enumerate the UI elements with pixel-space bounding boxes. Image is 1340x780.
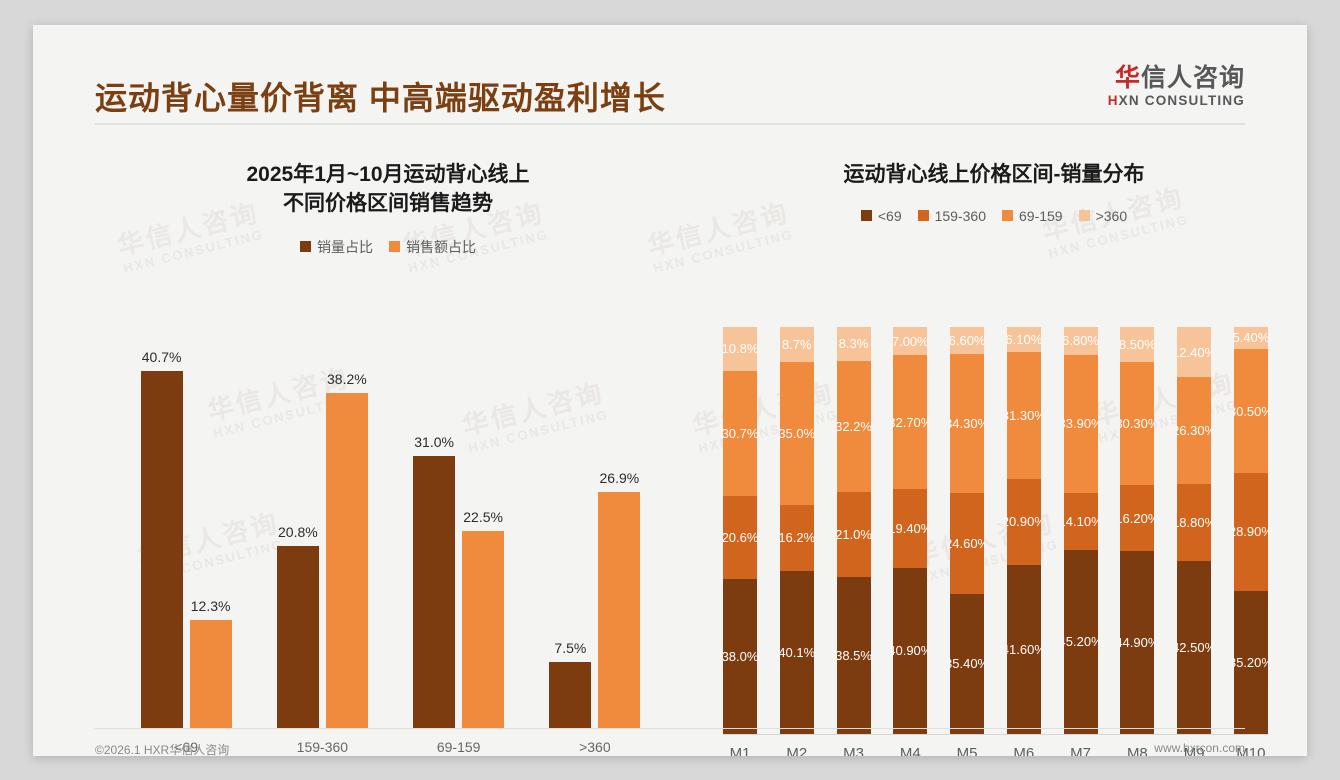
- segment-value-label: 26.30%: [1177, 424, 1211, 437]
- segment-value-label: 32.70%: [893, 416, 927, 429]
- footer-website: www.hxrcon.com: [1154, 741, 1245, 755]
- bar-group: 7.5%26.9%: [530, 320, 660, 728]
- stacked-chart-title-line1: 运动背心线上价格区间-销量分布: [709, 161, 1279, 190]
- x-axis-tick-label: M6: [1007, 745, 1041, 756]
- legend-item[interactable]: 159-360: [918, 208, 986, 224]
- bar-value-label: 40.7%: [142, 349, 182, 365]
- grouped-chart-title-line1: 2025年1月~10月运动背心线上: [73, 161, 703, 190]
- stacked-bar-segment[interactable]: 33.90%: [1064, 355, 1098, 493]
- segment-value-label: 6.80%: [1064, 334, 1098, 347]
- stacked-bar-segment[interactable]: 8.50%: [1120, 327, 1154, 362]
- bar-group: 31.0%22.5%: [394, 320, 524, 728]
- stacked-bar-segment[interactable]: 42.50%: [1177, 561, 1211, 734]
- x-axis-tick-label: M5: [950, 745, 984, 756]
- stacked-chart-legend: <69159-36069-159>360: [709, 208, 1279, 224]
- legend-item[interactable]: >360: [1079, 208, 1128, 224]
- bar-column[interactable]: 38.2%: [326, 320, 368, 728]
- legend-item[interactable]: 销售额占比: [389, 237, 476, 257]
- bar[interactable]: [462, 531, 504, 728]
- stacked-bar-segment[interactable]: 24.60%: [950, 493, 984, 593]
- stacked-chart-title: 运动背心线上价格区间-销量分布: [709, 161, 1279, 190]
- stacked-bar-segment[interactable]: 30.50%: [1234, 349, 1268, 473]
- bar-column[interactable]: 7.5%: [549, 320, 591, 728]
- stacked-bar-segment[interactable]: 44.90%: [1120, 551, 1154, 734]
- x-axis-tick-label: M8: [1120, 745, 1154, 756]
- stacked-bar-segment[interactable]: 45.20%: [1064, 550, 1098, 734]
- segment-value-label: 32.2%: [837, 420, 871, 433]
- segment-value-label: 40.90%: [893, 644, 927, 657]
- legend-item[interactable]: <69: [861, 208, 902, 224]
- segment-value-label: 14.10%: [1064, 515, 1098, 528]
- logo-hx-character: 华: [1115, 64, 1141, 92]
- bar-value-label: 26.9%: [600, 470, 640, 486]
- segment-value-label: 24.60%: [950, 537, 984, 550]
- stacked-bar[interactable]: 6.60%34.30%24.60%35.40%: [950, 327, 984, 734]
- legend-label: 销售额占比: [406, 237, 476, 257]
- bar[interactable]: [598, 492, 640, 728]
- stacked-bar-chart-panel: 运动背心线上价格区间-销量分布 <69159-36069-159>360 10.…: [709, 145, 1279, 715]
- segment-value-label: 6.60%: [950, 334, 984, 347]
- segment-value-label: 21.0%: [837, 528, 871, 541]
- stacked-bar-segment[interactable]: 16.2%: [780, 505, 814, 571]
- segment-value-label: 16.20%: [1120, 512, 1154, 525]
- legend-swatch-icon: [1079, 210, 1090, 221]
- legend-swatch-icon: [1002, 210, 1013, 221]
- stacked-bar-segment[interactable]: 32.70%: [893, 355, 927, 488]
- x-tick-range: >360: [530, 737, 660, 756]
- bar-column[interactable]: 22.5%: [462, 320, 504, 728]
- stacked-bar-segment[interactable]: 41.60%: [1007, 565, 1041, 734]
- bar-value-label: 12.3%: [191, 598, 231, 614]
- stacked-bar[interactable]: 10.8%30.7%20.6%38.0%: [723, 327, 757, 734]
- bar-group: 20.8%38.2%: [257, 320, 387, 728]
- legend-label: 销量占比: [317, 237, 373, 257]
- segment-value-label: 12.40%: [1177, 346, 1211, 359]
- stacked-bar-segment[interactable]: 19.40%: [893, 489, 927, 568]
- stacked-bar-segment[interactable]: 5.40%: [1234, 327, 1268, 349]
- logo-chinese-text: 华信人咨询: [1108, 65, 1245, 91]
- segment-value-label: 8.50%: [1120, 338, 1154, 351]
- stacked-bar-segment[interactable]: 35.20%: [1234, 591, 1268, 734]
- slide-card: 运动背心量价背离 中高端驱动盈利增长 华信人咨询 HXN CONSULTING …: [33, 25, 1307, 756]
- bar-value-label: 22.5%: [463, 509, 503, 525]
- x-tick-range: 69-159: [394, 737, 524, 756]
- stacked-bar-segment[interactable]: 8.7%: [780, 327, 814, 362]
- stacked-bar-segment[interactable]: 14.10%: [1064, 493, 1098, 550]
- segment-value-label: 30.30%: [1120, 417, 1154, 430]
- stacked-bar-segment[interactable]: 28.90%: [1234, 473, 1268, 591]
- legend-label: 159-360: [935, 208, 986, 224]
- legend-label: <69: [878, 208, 902, 224]
- stacked-bar[interactable]: 7.00%32.70%19.40%40.90%: [893, 327, 927, 734]
- segment-value-label: 44.90%: [1120, 636, 1154, 649]
- x-axis-tick-label: M3: [837, 745, 871, 756]
- segment-value-label: 38.5%: [837, 649, 871, 662]
- segment-value-label: 35.20%: [1234, 656, 1268, 669]
- logo-english-text: HXN CONSULTING: [1108, 94, 1245, 108]
- stacked-bar-segment[interactable]: 31.30%: [1007, 352, 1041, 480]
- segment-value-label: 19.40%: [893, 522, 927, 535]
- bar-column[interactable]: 20.8%: [277, 320, 319, 728]
- stacked-bar-segment[interactable]: 20.6%: [723, 496, 757, 580]
- bar[interactable]: [141, 371, 183, 728]
- grouped-chart-legend: 销量占比销售额占比: [73, 237, 703, 257]
- legend-item[interactable]: 69-159: [1002, 208, 1063, 224]
- segment-value-label: 10.8%: [723, 342, 757, 355]
- stacked-bar-segment[interactable]: 32.2%: [837, 361, 871, 492]
- stacked-bar[interactable]: 8.50%30.30%16.20%44.90%: [1120, 327, 1154, 734]
- segment-value-label: 42.50%: [1177, 641, 1211, 654]
- grouped-chart-title: 2025年1月~10月运动背心线上 不同价格区间销售趋势: [73, 161, 703, 219]
- header-divider: [95, 123, 1245, 125]
- bar-value-label: 38.2%: [327, 371, 367, 387]
- stacked-bar-segment[interactable]: 20.90%: [1007, 479, 1041, 564]
- stacked-bar-segment[interactable]: 34.30%: [950, 354, 984, 494]
- bar-value-label: 20.8%: [278, 524, 318, 540]
- stacked-bar[interactable]: 6.10%31.30%20.90%41.60%: [1007, 327, 1041, 734]
- segment-value-label: 31.30%: [1007, 409, 1041, 422]
- stacked-bar-segment[interactable]: 16.20%: [1120, 485, 1154, 551]
- stacked-bar-segment[interactable]: 30.30%: [1120, 362, 1154, 485]
- legend-swatch-icon: [300, 241, 311, 252]
- stacked-bar-segment[interactable]: 35.0%: [780, 362, 814, 504]
- stacked-bar-segment[interactable]: 8.3%: [837, 327, 871, 361]
- legend-swatch-icon: [861, 210, 872, 221]
- bar-column[interactable]: 31.0%: [413, 320, 455, 728]
- bar[interactable]: [326, 393, 368, 728]
- legend-swatch-icon: [389, 241, 400, 252]
- segment-value-label: 18.80%: [1177, 516, 1211, 529]
- bar-group: 40.7%12.3%: [121, 320, 251, 728]
- bar[interactable]: [413, 456, 455, 728]
- stacked-bar-segment[interactable]: 38.0%: [723, 579, 757, 734]
- grouped-chart-title-line2: 不同价格区间销售趋势: [73, 190, 703, 219]
- stacked-bar-segment[interactable]: 21.0%: [837, 492, 871, 577]
- stacked-bar-segment[interactable]: 40.90%: [893, 568, 927, 734]
- logo-en-rest: XN CONSULTING: [1119, 93, 1245, 108]
- logo-en-hx: H: [1108, 93, 1119, 108]
- stacked-bar-segment[interactable]: 12.40%: [1177, 327, 1211, 377]
- stacked-bar-segment[interactable]: 26.30%: [1177, 377, 1211, 484]
- stacked-bars: 10.8%30.7%20.6%38.0%8.7%35.0%16.2%40.1%8…: [723, 315, 1268, 734]
- stacked-bar-segment[interactable]: 38.5%: [837, 577, 871, 734]
- segment-value-label: 8.3%: [839, 337, 869, 350]
- stacked-bar-segment[interactable]: 7.00%: [893, 327, 927, 355]
- logo-cn-rest: 信人咨询: [1141, 64, 1245, 92]
- legend-label: >360: [1096, 208, 1128, 224]
- x-tick-range: 159-360: [257, 737, 387, 756]
- x-axis-tick-label: M7: [1064, 745, 1098, 756]
- legend-label: 69-159: [1019, 208, 1063, 224]
- stacked-bar-segment[interactable]: 18.80%: [1177, 484, 1211, 561]
- legend-swatch-icon: [918, 210, 929, 221]
- segment-value-label: 28.90%: [1234, 525, 1268, 538]
- x-axis-tick-label: M1: [723, 745, 757, 756]
- segment-value-label: 38.0%: [723, 650, 757, 663]
- stacked-bar-segment[interactable]: 6.60%: [950, 327, 984, 354]
- stacked-bar-segment[interactable]: 6.80%: [1064, 327, 1098, 355]
- segment-value-label: 5.40%: [1234, 331, 1268, 344]
- stacked-bar-segment[interactable]: 30.7%: [723, 371, 757, 496]
- x-axis-tick-label: M4: [893, 745, 927, 756]
- segment-value-label: 41.60%: [1007, 643, 1041, 656]
- stacked-bar[interactable]: 8.7%35.0%16.2%40.1%: [780, 327, 814, 734]
- segment-value-label: 6.10%: [1007, 333, 1041, 346]
- grouped-bar-chart-panel: 2025年1月~10月运动背心线上 不同价格区间销售趋势 销量占比销售额占比 4…: [73, 145, 703, 715]
- segment-value-label: 7.00%: [893, 335, 927, 348]
- stacked-bar[interactable]: 12.40%26.30%18.80%42.50%: [1177, 327, 1211, 734]
- slide-canvas: 运动背心量价背离 中高端驱动盈利增长 华信人咨询 HXN CONSULTING …: [0, 0, 1340, 780]
- grouped-bar-groups: 40.7%12.3%20.8%38.2%31.0%22.5%7.5%26.9%: [118, 320, 663, 728]
- stacked-chart-plot-area: 10.8%30.7%20.6%38.0%8.7%35.0%16.2%40.1%8…: [723, 315, 1268, 756]
- segment-value-label: 35.0%: [780, 427, 814, 440]
- segment-value-label: 20.6%: [723, 531, 757, 544]
- footer-divider: [95, 728, 1245, 729]
- grouped-chart-plot-area: 40.7%12.3%20.8%38.2%31.0%22.5%7.5%26.9% …: [118, 320, 663, 756]
- stacked-bar[interactable]: 8.3%32.2%21.0%38.5%: [837, 327, 871, 734]
- segment-value-label: 45.20%: [1064, 635, 1098, 648]
- legend-item[interactable]: 销量占比: [300, 237, 373, 257]
- bar[interactable]: [549, 662, 591, 728]
- x-axis-tick-label: 69-159（中高价位）: [394, 737, 524, 756]
- bar-value-label: 31.0%: [414, 434, 454, 450]
- bar-column[interactable]: 40.7%: [141, 320, 183, 728]
- segment-value-label: 8.7%: [782, 338, 812, 351]
- stacked-bar-segment[interactable]: 6.10%: [1007, 327, 1041, 352]
- stacked-bar[interactable]: 6.80%33.90%14.10%45.20%: [1064, 327, 1098, 734]
- x-axis-tick-label: 159-360（中低价位）: [257, 737, 387, 756]
- bar-column[interactable]: 26.9%: [598, 320, 640, 728]
- segment-value-label: 33.90%: [1064, 417, 1098, 430]
- segment-value-label: 40.1%: [780, 646, 814, 659]
- x-axis-tick-label: M2: [780, 745, 814, 756]
- page-title: 运动背心量价背离 中高端驱动盈利增长: [95, 73, 666, 119]
- segment-value-label: 30.7%: [723, 427, 757, 440]
- company-logo: 华信人咨询 HXN CONSULTING: [1108, 65, 1245, 108]
- segment-value-label: 30.50%: [1234, 405, 1268, 418]
- segment-value-label: 35.40%: [950, 657, 984, 670]
- bar[interactable]: [277, 546, 319, 728]
- segment-value-label: 34.30%: [950, 417, 984, 430]
- stacked-bar-segment[interactable]: 40.1%: [780, 571, 814, 734]
- segment-value-label: 16.2%: [780, 531, 814, 544]
- stacked-bar-segment[interactable]: 10.8%: [723, 327, 757, 371]
- bar[interactable]: [190, 620, 232, 728]
- segment-value-label: 20.90%: [1007, 515, 1041, 528]
- bar-value-label: 7.5%: [554, 640, 586, 656]
- x-axis-tick-label: >360（高价位）: [530, 737, 660, 756]
- footer-copyright: ©2026.1 HXR华信人咨询: [95, 741, 229, 756]
- bar-column[interactable]: 12.3%: [190, 320, 232, 728]
- stacked-bar-segment[interactable]: 35.40%: [950, 594, 984, 734]
- stacked-bar[interactable]: 5.40%30.50%28.90%35.20%: [1234, 327, 1268, 734]
